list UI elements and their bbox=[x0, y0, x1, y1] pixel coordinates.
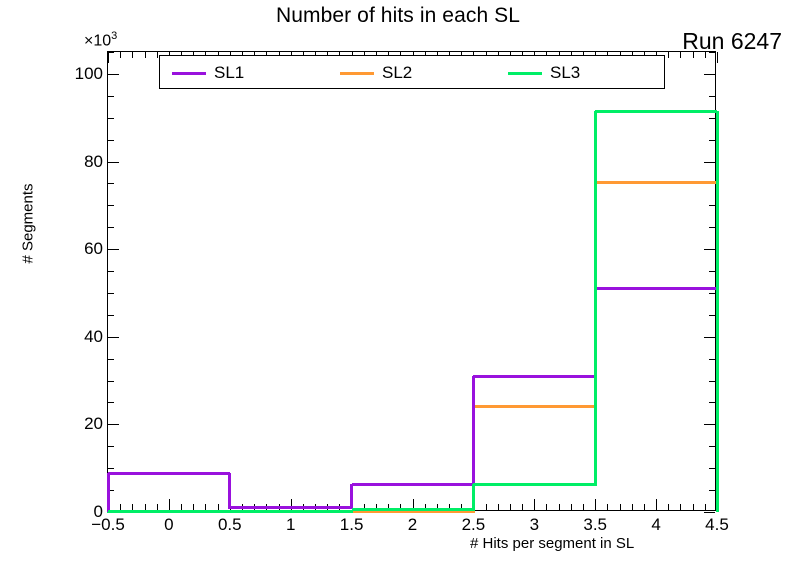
y-axis-title: # Segments bbox=[20, 144, 37, 304]
histogram-bin-edge bbox=[472, 484, 475, 511]
y-exponent-base: ×10 bbox=[84, 32, 111, 49]
x-axis-mirror-tick bbox=[717, 52, 718, 63]
x-axis-tick-label: 3 bbox=[499, 516, 569, 533]
histogram-bin-edge bbox=[228, 512, 231, 514]
legend-swatch-icon bbox=[340, 72, 374, 75]
y-axis-tick-label: 60 bbox=[43, 240, 103, 257]
x-axis-tick-label: 0 bbox=[134, 516, 204, 533]
y-exponent-power: 3 bbox=[111, 30, 117, 42]
histogram-bin-top bbox=[595, 110, 717, 113]
chart-canvas: Number of hits in each SL Run 6247 ×103 … bbox=[0, 0, 796, 572]
y-axis-tick-label: 20 bbox=[43, 415, 103, 432]
x-axis-tick-label: −0.5 bbox=[73, 516, 143, 533]
legend-label: SL2 bbox=[382, 63, 412, 83]
x-axis-title: # Hits per segment in SL bbox=[470, 535, 634, 552]
legend-label: SL3 bbox=[550, 63, 580, 83]
legend-swatch-icon bbox=[172, 72, 206, 75]
x-axis-tick-label: 2.5 bbox=[438, 516, 508, 533]
legend-entry-sl3[interactable]: SL3 bbox=[496, 56, 580, 90]
histogram-bin-edge bbox=[107, 512, 110, 514]
page-title: Number of hits in each SL bbox=[0, 4, 796, 28]
x-axis-tick-label: 2 bbox=[378, 516, 448, 533]
y-axis-tick-label: 100 bbox=[43, 65, 103, 82]
x-axis-tick-label: 4.5 bbox=[682, 516, 752, 533]
x-axis-tick-label: 3.5 bbox=[560, 516, 630, 533]
y-axis-tick-label: 80 bbox=[43, 153, 103, 170]
x-axis-tick-label: 1 bbox=[256, 516, 326, 533]
histogram-bin-top bbox=[108, 510, 230, 513]
legend-label: SL1 bbox=[214, 63, 244, 83]
histogram-bin-edge bbox=[594, 111, 597, 486]
x-axis-tick-label: 0.5 bbox=[195, 516, 265, 533]
plot-frame: 020406080100 −0.500.511.522.533.544.5 SL… bbox=[107, 51, 716, 511]
y-axis-mirror-tick bbox=[704, 512, 715, 513]
y-axis-tick-label: 40 bbox=[43, 328, 103, 345]
legend: SL1SL2SL3 bbox=[159, 55, 665, 89]
x-axis-tick-label: 1.5 bbox=[317, 516, 387, 533]
histogram-bin-edge bbox=[350, 510, 353, 513]
legend-entry-sl2[interactable]: SL2 bbox=[328, 56, 412, 90]
histogram-bin-edge bbox=[716, 111, 719, 512]
histogram-bin-top bbox=[230, 510, 352, 513]
histogram-bin-top bbox=[352, 508, 474, 511]
legend-swatch-icon bbox=[508, 72, 542, 75]
histogram-series-sl3 bbox=[108, 52, 715, 510]
histogram-bin-top bbox=[473, 483, 595, 486]
legend-entry-sl1[interactable]: SL1 bbox=[160, 56, 244, 90]
y-axis-exponent-label: ×103 bbox=[84, 30, 117, 50]
x-axis-tick-label: 4 bbox=[621, 516, 691, 533]
